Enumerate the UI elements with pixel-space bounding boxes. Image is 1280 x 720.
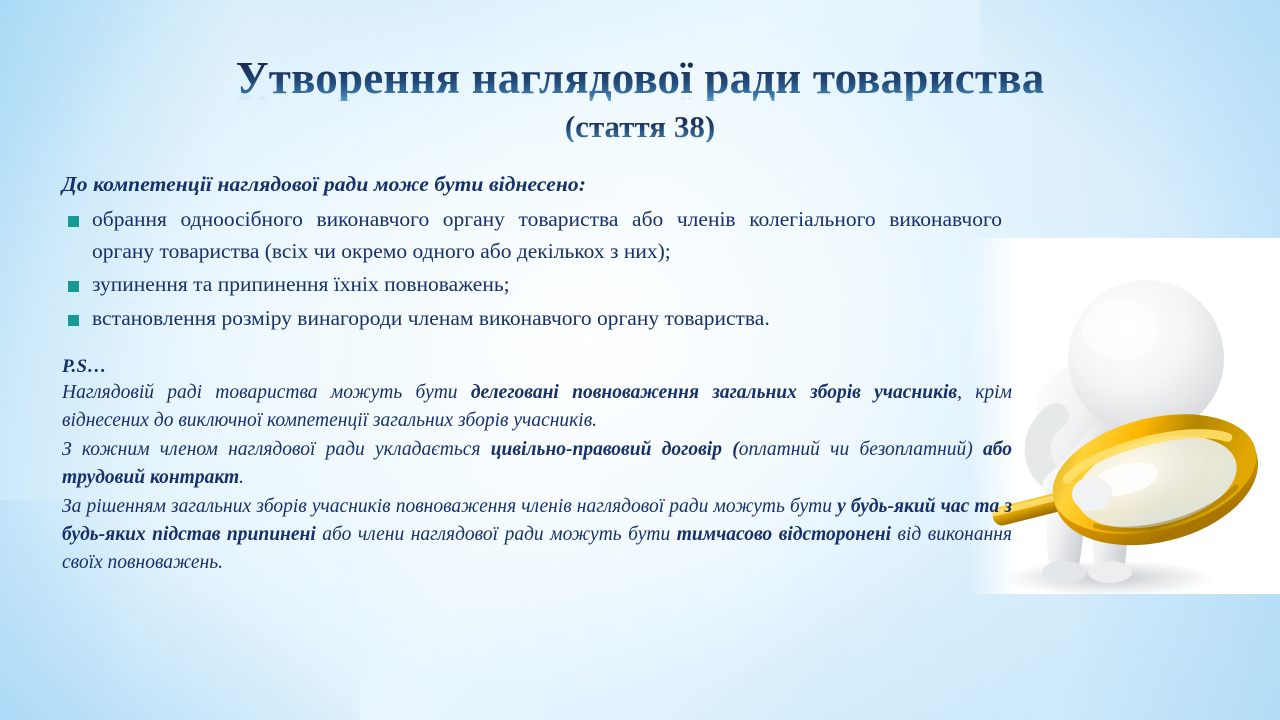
body-lead-line: До компетенції наглядової ради може бути…	[62, 172, 1002, 197]
list-item: зупинення та припинення їхніх повноважен…	[62, 269, 1002, 301]
list-item-text: встановлення розміру винагороди членам в…	[92, 306, 770, 330]
list-item: встановлення розміру винагороди членам в…	[62, 303, 1002, 335]
plain-text: .	[239, 467, 244, 488]
postscript-block: P.S… Наглядовій раді товариства можуть б…	[62, 356, 1002, 576]
postscript-paragraph: За рішенням загальних зборів учасників п…	[62, 493, 1012, 577]
list-item: обрання одноосібного виконавчого органу …	[62, 204, 1002, 267]
plain-text: оплатний чи безоплатний)	[739, 439, 973, 460]
postscript-paragraph: Наглядовій раді товариства можуть бути д…	[62, 379, 1012, 435]
emphasis-text: делеговані повноваження загальних зборів…	[471, 382, 957, 403]
bullet-square-icon	[68, 216, 79, 227]
slide-subtitle-reflection: (стаття 38)	[0, 133, 1280, 142]
postscript-heading: P.S…	[62, 356, 1002, 378]
bullet-square-icon	[68, 281, 79, 292]
plain-text: З кожним членом наглядової ради укладаєт…	[62, 439, 491, 460]
list-item-text: обрання одноосібного виконавчого органу …	[92, 207, 1002, 263]
slide-title-reflection: Утворення наглядової ради товариства	[0, 91, 1280, 103]
slide-title-block: Утворення наглядової ради товариства Утв…	[0, 56, 1280, 159]
plain-text: За рішенням загальних зборів учасників п…	[62, 496, 837, 517]
plain-text: або члени наглядової ради можуть бути	[316, 524, 677, 545]
slide-root: Утворення наглядової ради товариства Утв…	[0, 0, 1280, 720]
plain-text: Наглядовій раді товариства можуть бути	[62, 382, 471, 403]
list-item-text: зупинення та припинення їхніх повноважен…	[92, 272, 510, 296]
emphasis-text: тимчасово відсторонені	[677, 524, 891, 545]
postscript-paragraph: З кожним членом наглядової ради укладаєт…	[62, 436, 1012, 492]
emphasis-text: цивільно-правовий договір (	[491, 439, 739, 460]
competence-bullet-list: обрання одноосібного виконавчого органу …	[62, 204, 1002, 334]
slide-body: До компетенції наглядової ради може бути…	[62, 172, 1002, 578]
bullet-square-icon	[68, 315, 79, 326]
